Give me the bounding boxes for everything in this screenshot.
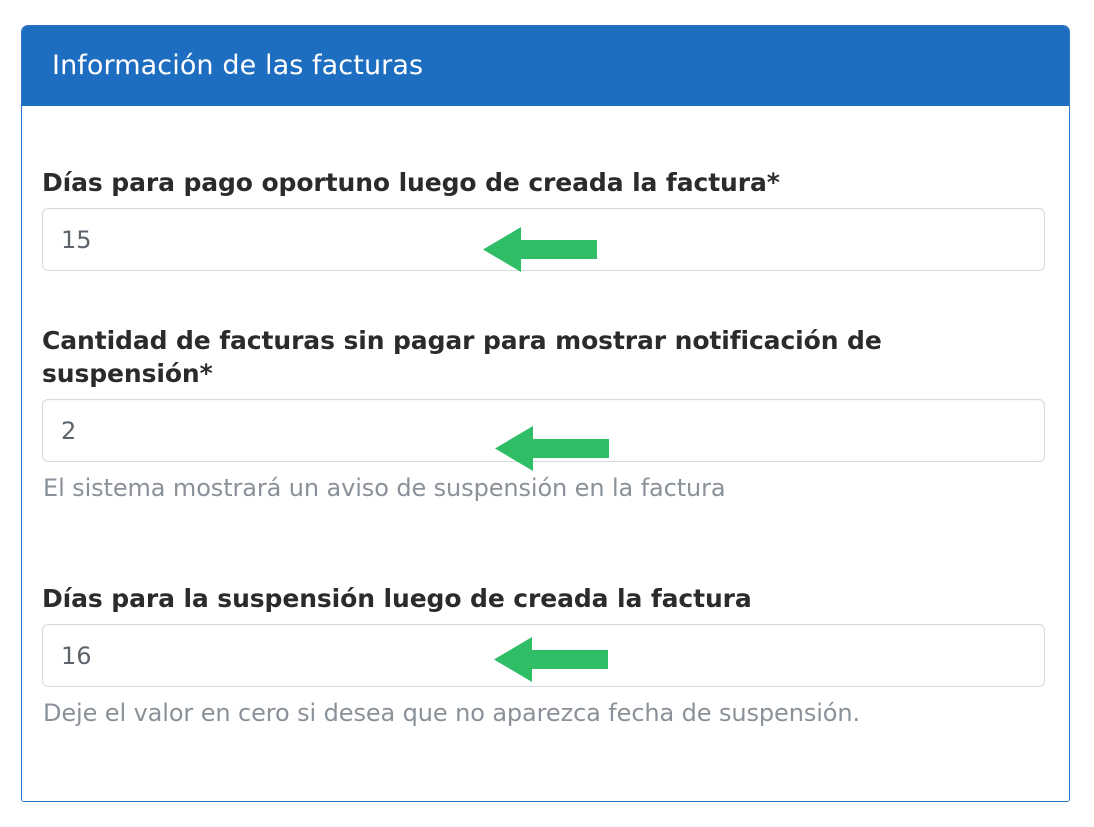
card-header: Información de las facturas	[22, 26, 1069, 106]
field-group-cantidad-facturas: Cantidad de facturas sin pagar para most…	[42, 324, 1045, 504]
label-dias-suspension: Días para la suspensión luego de creada …	[42, 582, 1045, 615]
input-dias-pago[interactable]	[42, 208, 1045, 271]
input-cantidad-facturas[interactable]	[42, 399, 1045, 462]
invoices-info-card: Información de las facturas Días para pa…	[21, 25, 1070, 802]
field-group-dias-suspension: Días para la suspensión luego de creada …	[42, 582, 1045, 729]
card-body: Días para pago oportuno luego de creada …	[22, 106, 1069, 801]
field-group-dias-pago: Días para pago oportuno luego de creada …	[42, 166, 1045, 271]
page-root: Información de las facturas Días para pa…	[0, 0, 1094, 827]
help-cantidad-facturas: El sistema mostrará un aviso de suspensi…	[43, 473, 1045, 504]
card-header-title: Información de las facturas	[52, 51, 423, 81]
label-dias-pago: Días para pago oportuno luego de creada …	[42, 166, 1045, 199]
label-cantidad-facturas: Cantidad de facturas sin pagar para most…	[42, 324, 1045, 390]
input-dias-suspension[interactable]	[42, 624, 1045, 687]
help-dias-suspension: Deje el valor en cero si desea que no ap…	[43, 698, 1045, 729]
